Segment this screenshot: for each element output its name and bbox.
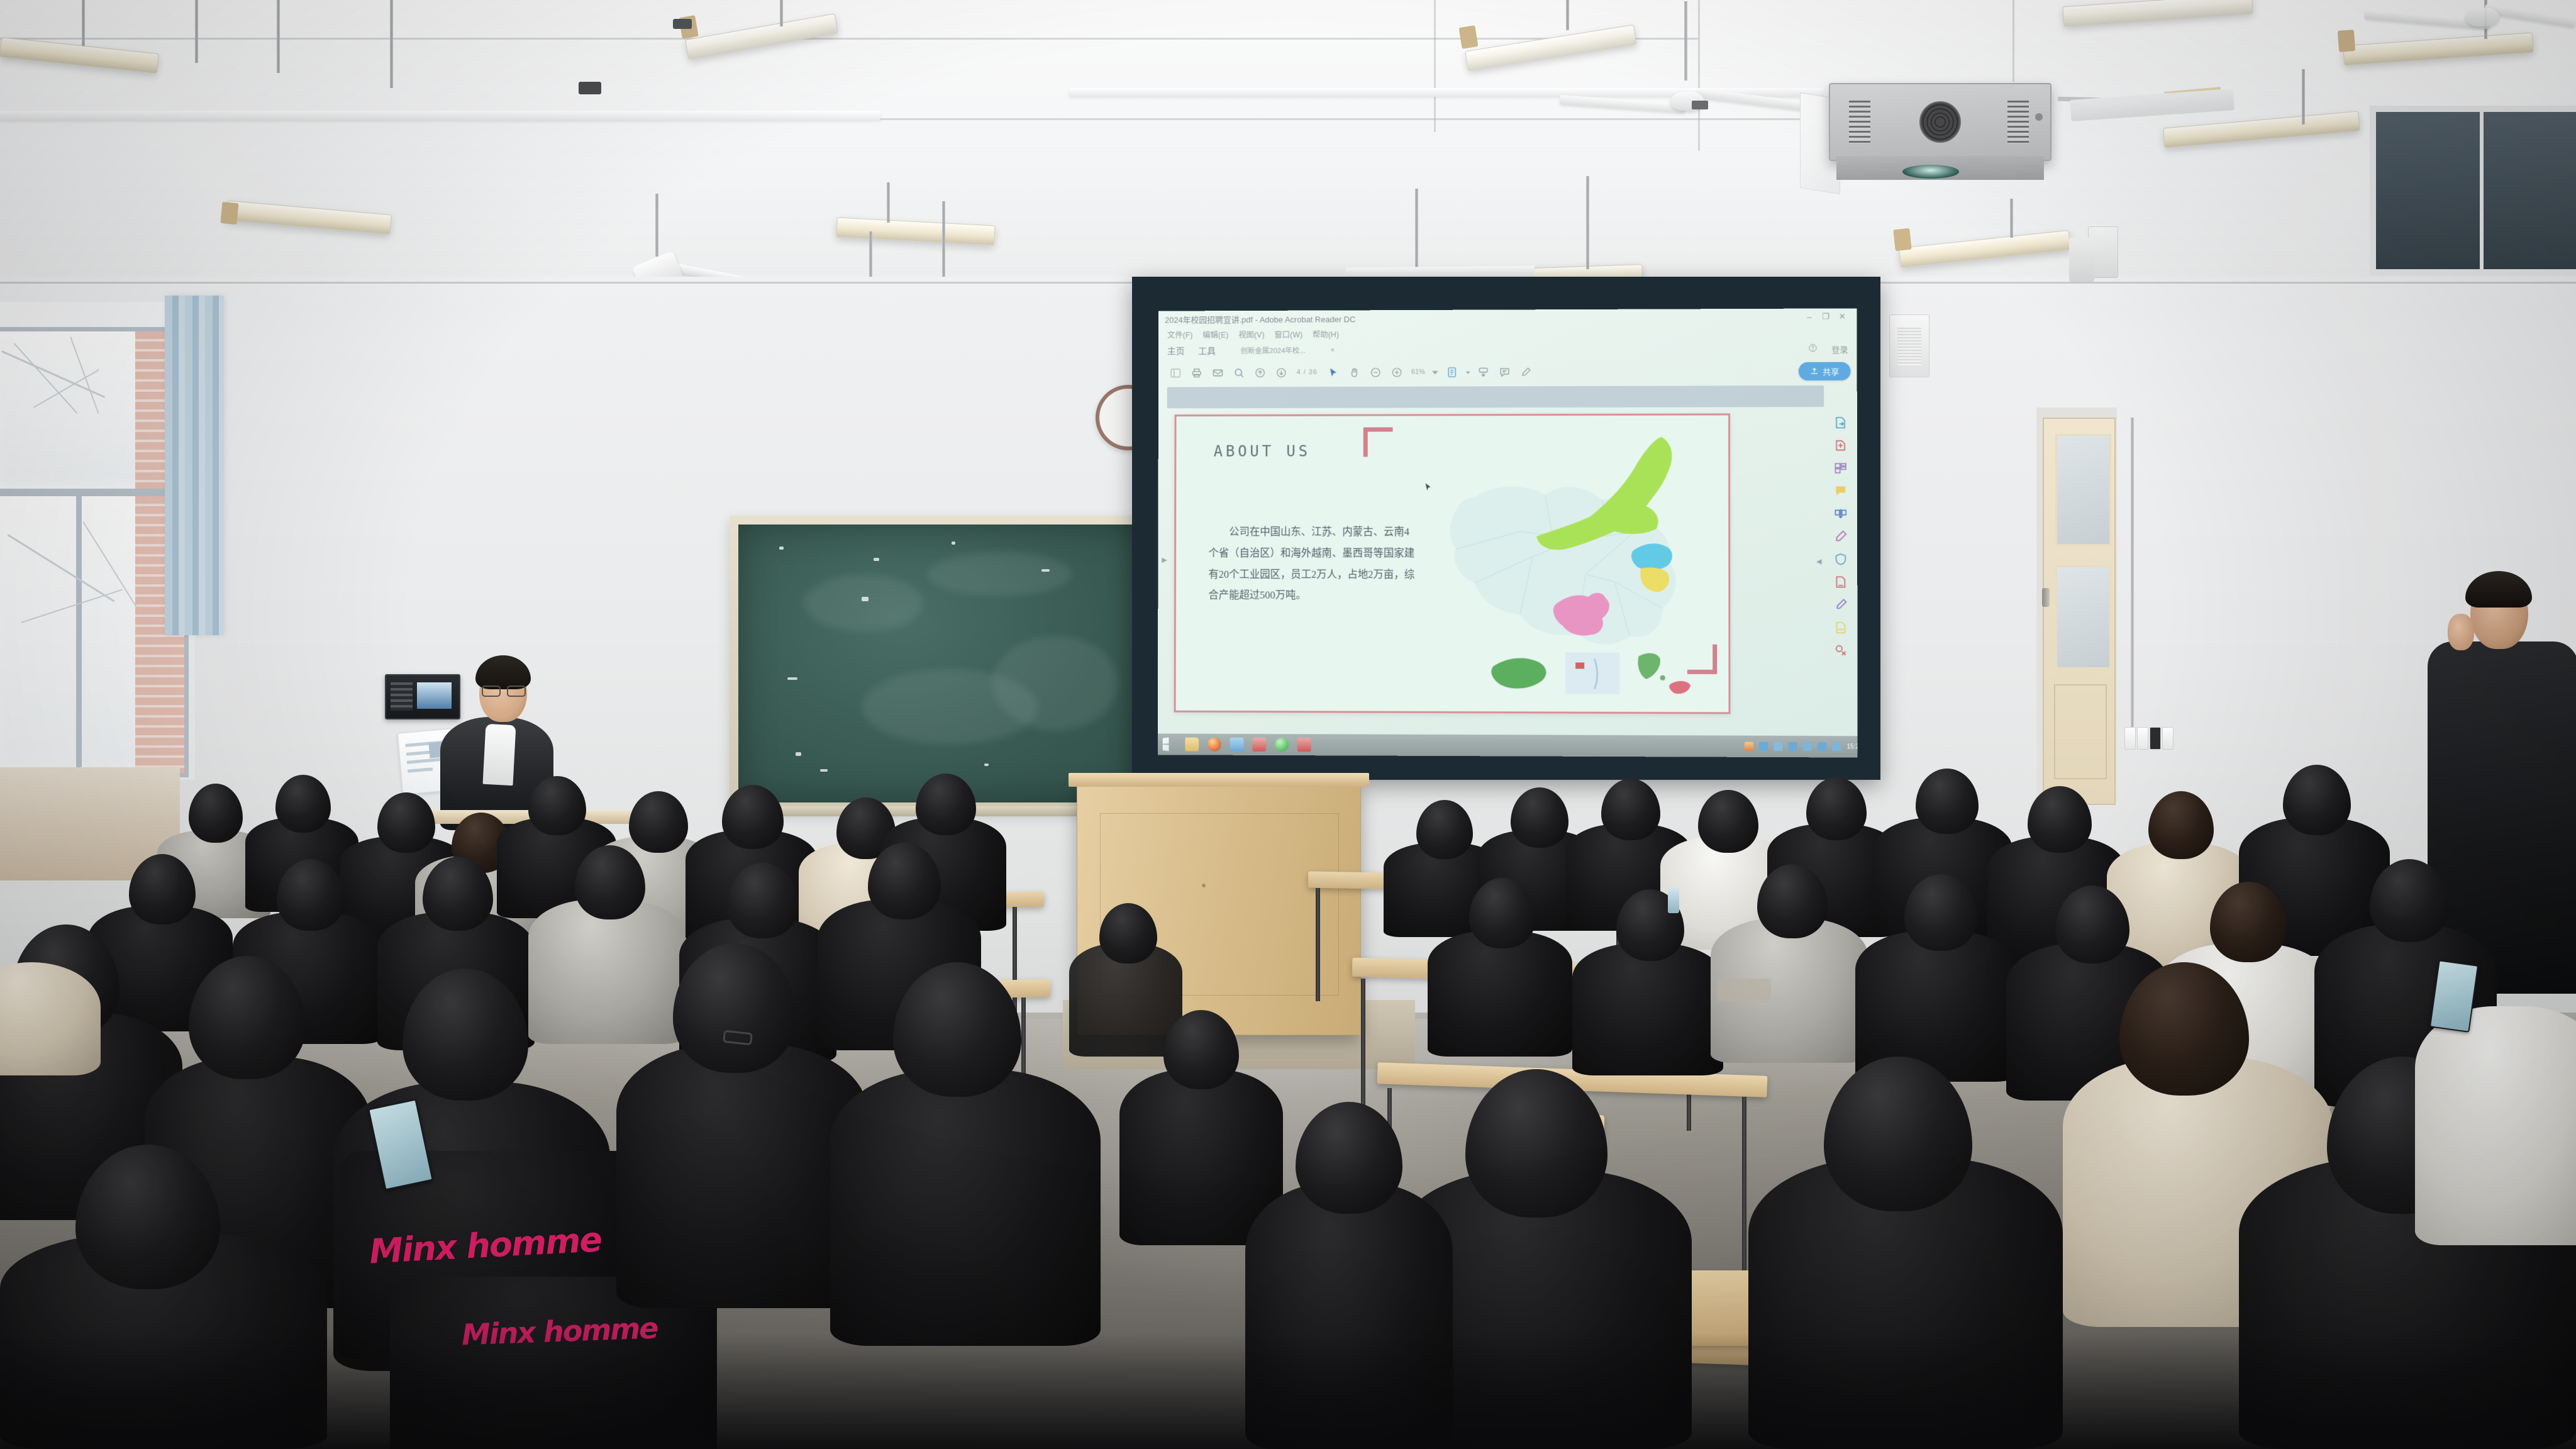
light-switch-panel[interactable]	[2124, 727, 2173, 750]
light-rod	[780, 0, 783, 26]
tree-branch	[14, 343, 78, 414]
slide-corner-mark	[1363, 427, 1393, 457]
light-end-cap	[2338, 30, 2355, 52]
more-tools-icon[interactable]	[1834, 643, 1848, 657]
acrobat-window-title: 2024年校园招聘宣讲.pdf - Adobe Acrobat Reader D…	[1165, 311, 1801, 325]
ceiling-beam	[0, 111, 880, 121]
desk-leg	[1316, 888, 1320, 1001]
wps-presentation-icon[interactable]	[1252, 738, 1266, 752]
ime-chinese-icon[interactable]	[1759, 742, 1768, 751]
menu-item-window[interactable]: 窗口(W)	[1274, 328, 1302, 340]
light-end-cap	[221, 202, 239, 225]
acrobat-tools-rail	[1824, 407, 1857, 723]
door-glass-panel	[2055, 434, 2111, 545]
classroom-scene: 10 9 8 2024年校园招聘宣讲.pdf - Adobe Acrobat R…	[0, 0, 2576, 1449]
window-mullion	[76, 496, 82, 773]
collapse-rail-icon[interactable]: ◀	[1816, 557, 1822, 565]
light-rod	[2010, 199, 2013, 238]
power-outlet[interactable]	[2162, 727, 2173, 750]
horizontal-scrollbar[interactable]	[1167, 386, 1824, 408]
tab-tools[interactable]: 工具	[1198, 345, 1216, 357]
desk-item	[1717, 979, 1771, 1001]
next-page-icon[interactable]	[1270, 364, 1292, 380]
share-upload-icon	[1810, 367, 1819, 375]
control-panel-keys	[391, 682, 413, 711]
page-indicator[interactable]: 4 / 36	[1297, 369, 1318, 376]
fan-rod	[655, 194, 658, 257]
standing-attendee-hand	[2448, 614, 2474, 650]
acrobat-toolbar: 4 / 36 61%	[1158, 359, 1857, 386]
share-button[interactable]: 共享	[1799, 362, 1851, 380]
zoom-in-icon[interactable]	[1386, 364, 1407, 380]
system-tray: 15:22	[1745, 742, 1858, 752]
hand-tool-icon[interactable]	[1344, 364, 1365, 380]
combine-files-icon[interactable]	[1834, 507, 1848, 521]
door-handle[interactable]	[2042, 588, 2050, 607]
control-panel-screen	[417, 682, 452, 709]
scroll-mode-icon[interactable]	[1473, 364, 1494, 380]
help-circle-icon[interactable]	[1808, 343, 1818, 355]
tab-document-close-icon[interactable]: ×	[1330, 347, 1335, 354]
fan-hub	[2465, 8, 2499, 26]
tree-branch	[7, 534, 114, 602]
acrobat-reader-icon[interactable]	[1297, 738, 1311, 752]
expand-sidebar-icon[interactable]: ▶	[1162, 556, 1167, 564]
light-switch[interactable]	[2124, 727, 2136, 750]
firefox-icon[interactable]	[1207, 738, 1221, 752]
south-sea-inset	[1565, 652, 1619, 694]
mouse-cursor-icon	[1423, 482, 1433, 496]
projector-lock	[2035, 113, 2043, 121]
power-outlet[interactable]	[2150, 727, 2161, 750]
ceiling-fan	[2365, 0, 2576, 38]
network-icon[interactable]	[1774, 742, 1782, 751]
tab-document[interactable]: 创新金属2024年校...	[1241, 345, 1306, 355]
menu-item-edit[interactable]: 编辑(E)	[1202, 328, 1228, 340]
sogou-ime-icon[interactable]	[1745, 742, 1753, 751]
protect-icon[interactable]	[1834, 552, 1848, 566]
interior-window	[2370, 106, 2576, 275]
acrobat-reader-window: 2024年校园招聘宣讲.pdf - Adobe Acrobat Reader D…	[1158, 308, 1858, 757]
menu-item-help[interactable]: 帮助(H)	[1313, 328, 1339, 340]
highlight-pen-icon[interactable]	[1516, 364, 1537, 380]
ceiling-fixture	[579, 82, 601, 94]
ceiling-projector-enclosure	[1829, 83, 2051, 161]
compress-pdf-icon[interactable]	[1834, 575, 1848, 589]
email-icon[interactable]	[1207, 365, 1228, 381]
request-signature-icon[interactable]	[1834, 621, 1848, 635]
window-curtain	[165, 296, 224, 635]
edit-pdf-icon[interactable]	[1834, 530, 1848, 543]
presenter-shirt	[483, 724, 516, 786]
door-glass-panel	[2055, 565, 2111, 669]
china-map-graphic	[1426, 424, 1722, 702]
organize-pages-icon[interactable]	[1834, 461, 1848, 475]
light-rod	[390, 0, 393, 88]
projector-fan-grate	[1919, 101, 1961, 143]
menu-item-view[interactable]: 视图(V)	[1238, 328, 1264, 340]
pdf-page[interactable]: ABOUT US 公司在中国山东、江苏、内蒙古、云南4个省（自治区）和海外越南、…	[1174, 413, 1731, 714]
ceiling-fixture	[673, 19, 692, 29]
chalkboard-frame	[730, 516, 1157, 811]
light-end-cap	[1459, 25, 1479, 49]
menu-item-file[interactable]: 文件(F)	[1167, 328, 1192, 340]
slide-heading: ABOUT US	[1214, 443, 1311, 460]
fill-and-sign-icon[interactable]	[1834, 598, 1848, 612]
ceiling-seam	[2012, 0, 2014, 82]
chevron-down-icon[interactable]	[1429, 364, 1441, 380]
file-explorer-icon[interactable]	[1185, 738, 1199, 752]
region-overseas-mexico	[1491, 658, 1546, 689]
close-button[interactable]: ✕	[1834, 311, 1850, 321]
ceiling-seam	[0, 38, 1698, 40]
tree-branch	[21, 589, 123, 623]
wall-control-panel[interactable]	[385, 674, 460, 719]
ceiling-fixture	[1692, 101, 1708, 109]
fit-page-icon[interactable]	[1441, 364, 1463, 380]
tab-home[interactable]: 主页	[1167, 345, 1185, 357]
light-rod	[887, 182, 890, 223]
tree-branch	[70, 336, 99, 414]
fan-blade	[1560, 95, 1685, 113]
wall-speaker	[2069, 238, 2094, 282]
audience-hood	[0, 962, 101, 1075]
audience-body	[1572, 943, 1723, 1075]
wall-conduit	[2131, 418, 2134, 732]
light-rod	[1566, 0, 1569, 30]
acrobat-menu-bar: 文件(F) 编辑(E) 视图(V) 窗口(W) 帮助(H)	[1158, 325, 1857, 342]
region-overseas-vietnam	[1638, 653, 1660, 679]
minimize-button[interactable]: –	[1801, 312, 1818, 321]
export-pdf-icon[interactable]	[1833, 416, 1847, 430]
light-rod	[2302, 69, 2305, 125]
create-pdf-icon[interactable]	[1833, 438, 1847, 452]
comment-tool-icon[interactable]	[1834, 484, 1848, 498]
classroom-window-upper	[0, 327, 189, 493]
clipboard-icon[interactable]	[1803, 742, 1812, 751]
comment-icon[interactable]	[1494, 364, 1516, 380]
audience-body	[830, 1069, 1101, 1346]
acrobat-title-bar: 2024年校园招聘宣讲.pdf - Adobe Acrobat Reader D…	[1158, 308, 1857, 327]
tree-branch	[82, 521, 136, 608]
volume-icon[interactable]	[1818, 742, 1826, 751]
windows-start-icon[interactable]	[1163, 737, 1177, 751]
light-rod	[1415, 189, 1418, 273]
projector-vent	[1849, 101, 1870, 143]
windows-taskbar: 15:22	[1158, 733, 1858, 757]
door-bottom-panel	[2054, 684, 2107, 779]
light-rod	[195, 0, 198, 63]
print-icon[interactable]	[1185, 365, 1207, 381]
acrobat-tab-strip: 主页 工具 创新金属2024年校... × 登录	[1158, 340, 1857, 360]
sidebar-toggle-icon[interactable]	[1165, 365, 1186, 381]
region-overseas-dot	[1660, 675, 1665, 680]
previous-page-icon[interactable]	[1249, 364, 1270, 380]
audience-body	[1428, 931, 1572, 1057]
podium-top	[1069, 773, 1369, 787]
inset-marker	[1575, 662, 1584, 669]
presenter-glasses	[482, 686, 526, 694]
light-rod	[277, 0, 280, 73]
classroom-door[interactable]	[2043, 418, 2116, 805]
foreground-shadow	[0, 1333, 2576, 1449]
blue-app-icon[interactable]	[1230, 738, 1244, 752]
desk-leg	[1742, 1097, 1746, 1279]
select-cursor-icon[interactable]	[1323, 364, 1344, 380]
share-button-label: 共享	[1823, 365, 1839, 377]
wall-speaker	[1889, 314, 1929, 377]
ceiling	[0, 0, 2576, 296]
fan-rod	[1684, 1, 1687, 80]
search-icon[interactable]	[1228, 364, 1250, 380]
zoom-out-icon[interactable]	[1365, 364, 1386, 380]
water-bottle	[1668, 888, 1679, 913]
chalkboard[interactable]	[738, 525, 1148, 802]
settings-icon[interactable]	[1832, 742, 1841, 751]
classroom-window-lower[interactable]	[0, 492, 189, 777]
podium-knob	[1202, 884, 1206, 887]
projector-lens	[1902, 165, 1959, 179]
jacket-brand-text: Minx homme	[369, 1219, 602, 1271]
projector-vent	[2007, 101, 2029, 143]
audience-body	[2415, 1006, 2576, 1245]
region-overseas-marker	[1669, 681, 1690, 694]
light-end-cap	[1893, 228, 1911, 252]
acrobat-document-area: ABOUT US 公司在中国山东、江苏、内蒙古、云南4个省（自治区）和海外越南、…	[1158, 407, 1858, 714]
download-icon[interactable]	[1788, 742, 1797, 751]
chevron-down-icon[interactable]	[1463, 364, 1473, 380]
maximize-button[interactable]: ❐	[1818, 311, 1834, 321]
wechat-icon[interactable]	[1275, 738, 1289, 752]
taskbar-clock[interactable]: 15:22	[1846, 743, 1857, 750]
projection-screen-surface: 2024年校园招聘宣讲.pdf - Adobe Acrobat Reader D…	[1158, 308, 1858, 757]
ceiling-seam	[1434, 0, 1436, 132]
sign-in-link[interactable]: 登录	[1831, 343, 1848, 355]
ceiling-fan	[1560, 75, 1836, 119]
slide-body-text: 公司在中国山东、江苏、内蒙古、云南4个省（自治区）和海外越南、墨西哥等国家建有2…	[1208, 521, 1414, 606]
audience-body	[528, 899, 686, 1044]
light-switch[interactable]	[2137, 727, 2148, 750]
zoom-level[interactable]: 61%	[1411, 369, 1425, 376]
desk-leg	[1361, 979, 1365, 1123]
